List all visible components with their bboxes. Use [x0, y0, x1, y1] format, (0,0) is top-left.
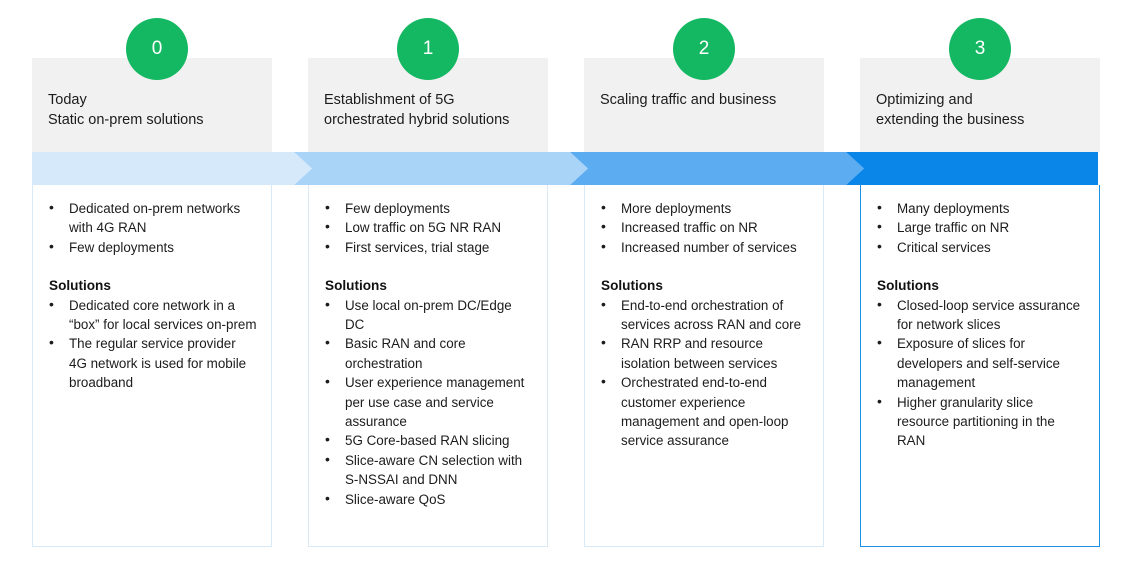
- solutions-heading-0: Solutions: [43, 276, 257, 295]
- stage-badge-3: 3: [949, 18, 1011, 80]
- progression-arrow-band: [32, 152, 1098, 185]
- list-item: Critical services: [871, 238, 1085, 257]
- solutions-heading-3: Solutions: [871, 276, 1085, 295]
- list-item: Closed-loop service assurance for networ…: [871, 296, 1085, 335]
- solutions-heading-2: Solutions: [595, 276, 809, 295]
- stage-card-1: Few deployments Low traffic on 5G NR RAN…: [308, 185, 548, 547]
- solutions-heading-1: Solutions: [319, 276, 533, 295]
- stage-title-0: Today Static on-prem solutions: [48, 90, 256, 130]
- stage-card-3: Many deployments Large traffic on NR Cri…: [860, 185, 1100, 547]
- list-item: More deployments: [595, 199, 809, 218]
- list-item: End-to-end orchestration of services acr…: [595, 296, 809, 335]
- solutions-list-0: Dedicated core network in a “box” for lo…: [43, 296, 257, 393]
- stage-badge-label-0: 0: [152, 38, 163, 59]
- characteristics-list-0: Dedicated on-prem networks with 4G RAN F…: [43, 199, 257, 257]
- list-item: User experience management per use case …: [319, 373, 533, 431]
- arrow-segment-3: [846, 152, 1098, 185]
- arrow-segment-2: [570, 152, 864, 185]
- stage-title-3: Optimizing and extending the business: [876, 90, 1084, 130]
- stage-card-0: Dedicated on-prem networks with 4G RAN F…: [32, 185, 272, 547]
- list-item: Increased traffic on NR: [595, 218, 809, 237]
- stage-badge-label-2: 2: [699, 38, 710, 59]
- list-item: Large traffic on NR: [871, 218, 1085, 237]
- solutions-list-3: Closed-loop service assurance for networ…: [871, 296, 1085, 451]
- list-item: Dedicated core network in a “box” for lo…: [43, 296, 257, 335]
- arrow-band-svg: [32, 152, 1098, 185]
- stage-title-1: Establishment of 5G orchestrated hybrid …: [324, 90, 532, 130]
- characteristics-list-1: Few deployments Low traffic on 5G NR RAN…: [319, 199, 533, 257]
- list-item: First services, trial stage: [319, 238, 533, 257]
- stage-title-2: Scaling traffic and business: [600, 90, 808, 110]
- arrow-segment-0: [32, 152, 312, 185]
- list-item: Slice-aware CN selection with S-NSSAI an…: [319, 451, 533, 490]
- list-item: Dedicated on-prem networks with 4G RAN: [43, 199, 257, 238]
- list-item: RAN RRP and resource isolation between s…: [595, 334, 809, 373]
- list-item: Increased number of services: [595, 238, 809, 257]
- arrow-segment-1: [294, 152, 588, 185]
- stage-badge-2: 2: [673, 18, 735, 80]
- stage-badge-0: 0: [126, 18, 188, 80]
- list-item: Use local on-prem DC/Edge DC: [319, 296, 533, 335]
- stage-badge-label-3: 3: [975, 38, 986, 59]
- characteristics-list-2: More deployments Increased traffic on NR…: [595, 199, 809, 257]
- stage-badge-label-1: 1: [423, 38, 434, 59]
- list-item: Exposure of slices for developers and se…: [871, 334, 1085, 392]
- stage-card-2: More deployments Increased traffic on NR…: [584, 185, 824, 547]
- list-item: Many deployments: [871, 199, 1085, 218]
- list-item: Slice-aware QoS: [319, 490, 533, 509]
- stage-badge-1: 1: [397, 18, 459, 80]
- list-item: Orchestrated end-to-end customer experie…: [595, 373, 809, 451]
- list-item: Higher granularity slice resource partit…: [871, 393, 1085, 451]
- list-item: 5G Core-based RAN slicing: [319, 431, 533, 450]
- list-item: Few deployments: [43, 238, 257, 257]
- characteristics-list-3: Many deployments Large traffic on NR Cri…: [871, 199, 1085, 257]
- list-item: Few deployments: [319, 199, 533, 218]
- list-item: The regular service provider 4G network …: [43, 334, 257, 392]
- solutions-list-2: End-to-end orchestration of services acr…: [595, 296, 809, 451]
- solutions-list-1: Use local on-prem DC/Edge DC Basic RAN a…: [319, 296, 533, 509]
- list-item: Low traffic on 5G NR RAN: [319, 218, 533, 237]
- list-item: Basic RAN and core orchestration: [319, 334, 533, 373]
- maturity-stages-diagram: Today Static on-prem solutions Establish…: [0, 0, 1128, 573]
